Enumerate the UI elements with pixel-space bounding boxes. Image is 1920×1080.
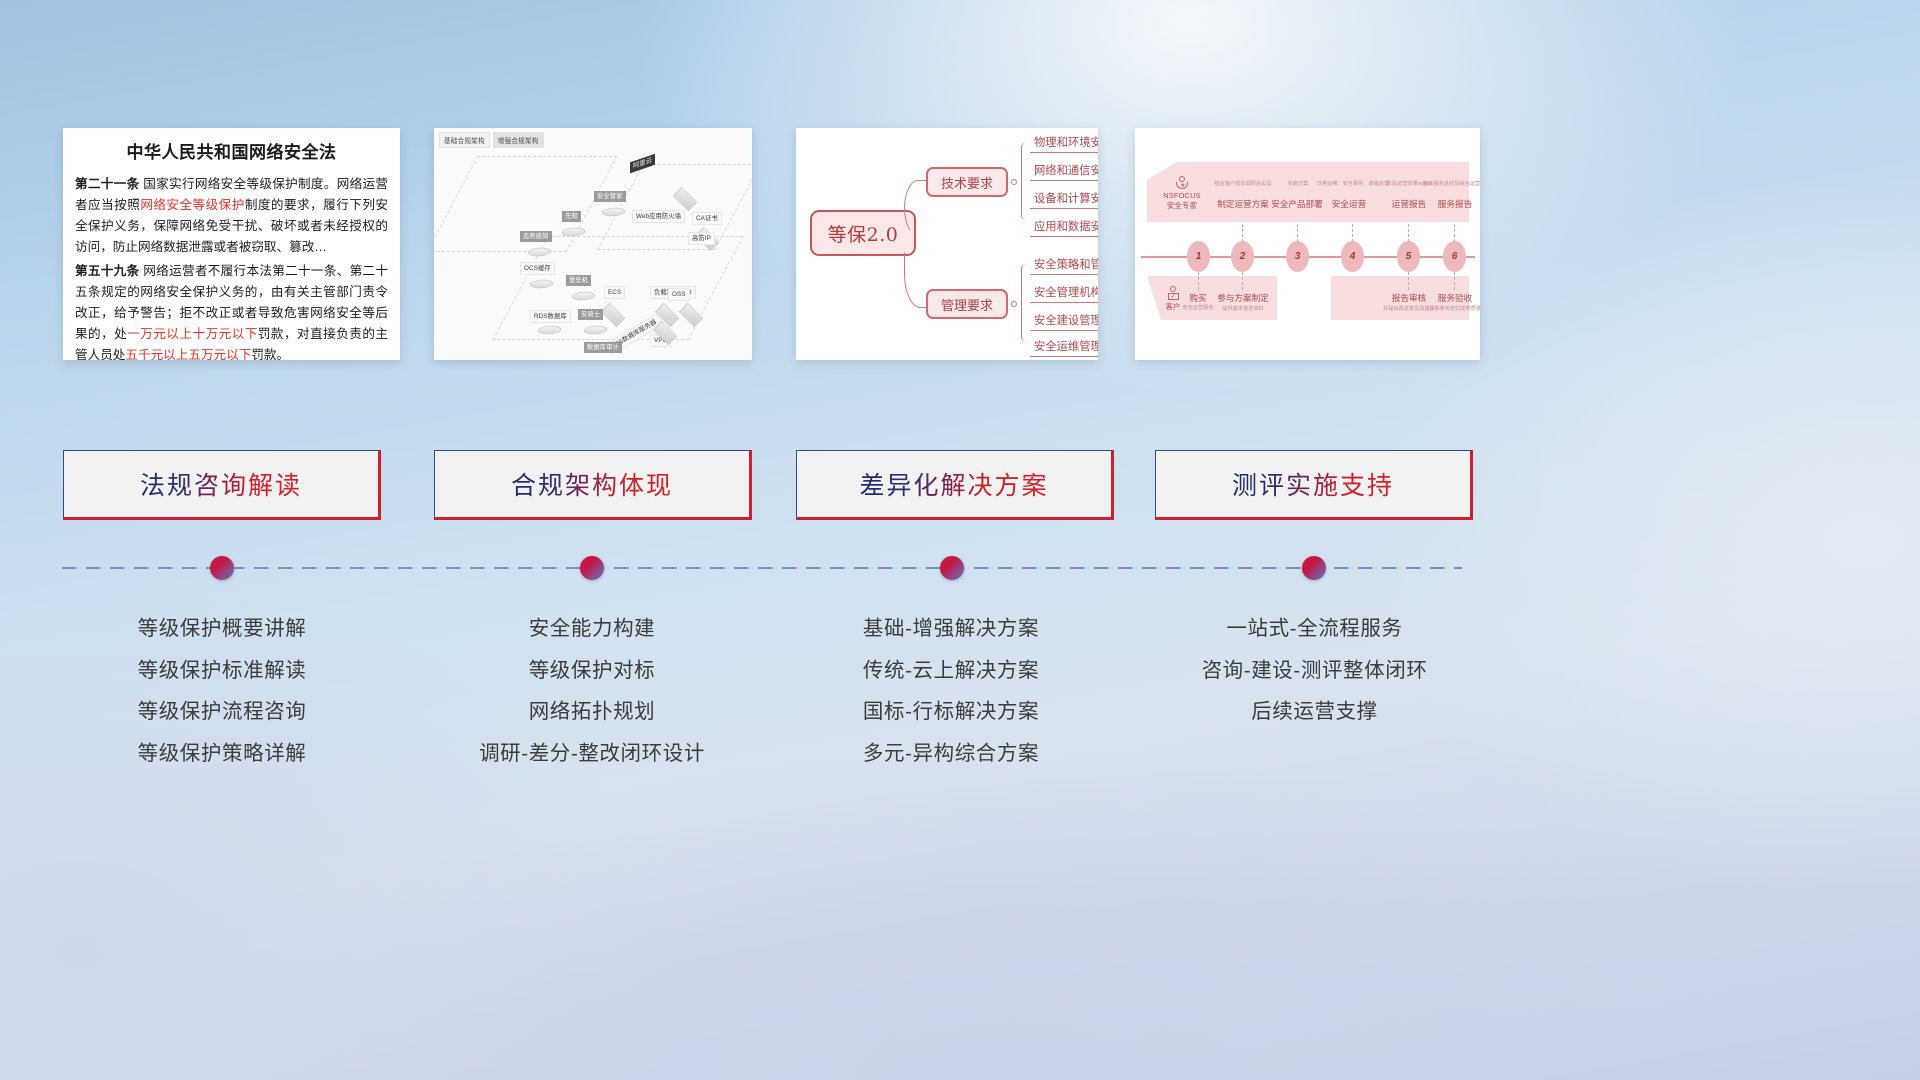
mindmap-branch-technical: 技术要求 xyxy=(926,167,1008,197)
title-label-3: 差异化解决方案 xyxy=(859,466,1048,502)
list-item: 等级保护对标 xyxy=(432,650,752,692)
timeline-stem-1 xyxy=(1198,272,1199,290)
progress-timeline xyxy=(62,567,1462,569)
tab-basic-compliance[interactable]: 基础合规架构 xyxy=(439,132,490,148)
title-label-4: 测评实施支持 xyxy=(1232,466,1394,502)
mindmap-leaf-device: 设备和计算安全 xyxy=(1030,190,1098,209)
timeline-node-3[interactable]: 3 xyxy=(1286,241,1309,272)
timeline-dot-1[interactable] xyxy=(210,556,234,580)
timeline-stem-5-top xyxy=(1408,224,1409,242)
list-item: 网络拓扑规划 xyxy=(432,691,752,733)
nsfocus-brand-line1: NSFOCUS xyxy=(1155,191,1209,201)
timeline-dot-2[interactable] xyxy=(580,556,604,580)
mindmap-leaf-policy: 安全策略和管理制度 xyxy=(1030,256,1098,275)
label-security-butler: 安全管家 xyxy=(594,191,626,202)
card-mindmap-preview[interactable]: 等保2.0 技术要求 物理和环境安全 网络和通信安全 设备和计算安全 应用和数据… xyxy=(796,128,1098,360)
card-architecture-preview[interactable]: 基础合规架构 增强合规架构 阿里云 安全管家 先知 态势感知 堡垒机 ECS 安… xyxy=(434,128,752,360)
law-article-21: 第二十一条 国家实行网络安全等级保护制度。网络运营者应当按照网络安全等级保护制度… xyxy=(75,174,388,258)
label-ocs-cache: OCS缓存 xyxy=(520,262,555,275)
timeline-stem-5-bottom xyxy=(1408,272,1409,290)
timeline-stem-6-bottom xyxy=(1454,272,1455,290)
timeline-top-label-3: 安全产品部署 xyxy=(1261,198,1333,210)
timeline-stem-2-bottom xyxy=(1242,272,1243,290)
mindmap-leaf-app-data: 应用和数据安全 xyxy=(1030,218,1098,237)
list-item: 安全能力构建 xyxy=(432,608,752,650)
label-anti-ddos: 高防IP xyxy=(688,232,715,245)
timeline-node-1[interactable]: 1 xyxy=(1187,241,1210,272)
security-expert-icon: ★ xyxy=(1176,176,1189,189)
mindmap-leaf-network: 网络和通信安全 xyxy=(1030,162,1098,181)
card-law-preview[interactable]: 中华人民共和国网络安全法 第二十一条 国家实行网络安全等级保护制度。网络运营者应… xyxy=(63,128,400,360)
timeline-top-sub-2: 结合客户现状调研后出具 xyxy=(1209,180,1277,187)
mindmap-leaf-physical: 物理和环境安全 xyxy=(1030,134,1098,153)
timeline-stem-2-top xyxy=(1242,224,1243,242)
title-label-2: 合规架构体现 xyxy=(511,466,673,502)
law-title: 中华人民共和国网络安全法 xyxy=(75,138,388,163)
nsfocus-brand: ★ NSFOCUS 安全专家 xyxy=(1155,176,1209,210)
list-item: 传统-云上解决方案 xyxy=(791,650,1111,692)
label-db-audit: 数据库审计 xyxy=(584,342,622,353)
timeline-stem-3 xyxy=(1297,224,1298,242)
mindmap-leaf-ops: 安全运维管理 xyxy=(1030,338,1098,357)
label-anqishi: 安骑士 xyxy=(578,309,603,320)
label-rds: RDS数据库 xyxy=(530,310,571,323)
timeline-node-4[interactable]: 4 xyxy=(1341,241,1364,272)
detail-column-2: 安全能力构建 等级保护对标 网络拓扑规划 调研-差分-整改闭环设计 xyxy=(432,608,752,774)
list-item: 咨询-建设-测评整体闭环 xyxy=(1152,650,1477,692)
timeline-node-6[interactable]: 6 xyxy=(1443,241,1466,272)
list-item: 等级保护概要讲解 xyxy=(62,608,382,650)
architecture-diagram: 基础合规架构 增强合规架构 阿里云 安全管家 先知 态势感知 堡垒机 ECS 安… xyxy=(434,128,752,360)
mindmap-leaf-build: 安全建设管理 xyxy=(1030,312,1098,331)
section-titles-row: 法规咨询解读 合规架构体现 差异化解决方案 测评实施支持 xyxy=(0,450,1920,520)
law-article-59-text-c: 罚款。 xyxy=(251,348,289,360)
list-item: 一站式-全流程服务 xyxy=(1152,608,1477,650)
timeline-dot-3[interactable] xyxy=(940,556,964,580)
mindmap-root: 等保2.0 xyxy=(810,210,916,256)
law-document: 中华人民共和国网络安全法 第二十一条 国家实行网络安全等级保护制度。网络运营者应… xyxy=(63,128,400,360)
list-item: 后续运营支撑 xyxy=(1152,691,1477,733)
title-box-differentiated-solution[interactable]: 差异化解决方案 xyxy=(796,450,1114,520)
preview-cards-row: 中华人民共和国网络安全法 第二十一条 国家实行网络安全等级保护制度。网络运营者应… xyxy=(0,128,1920,360)
mindmap-branch-management: 管理要求 xyxy=(926,289,1008,319)
timeline-node-5[interactable]: 5 xyxy=(1397,241,1420,272)
timeline-bottom-label-2: 参与方案制定 xyxy=(1209,292,1277,304)
list-item: 多元-异构综合方案 xyxy=(791,733,1111,775)
list-item: 基础-增强解决方案 xyxy=(791,608,1111,650)
timeline-bottom-sub-6: 评审服务交付成果质量 xyxy=(1419,305,1480,312)
mindmap-leaf-org: 安全管理机构和人员 xyxy=(1030,284,1098,303)
list-item: 等级保护标准解读 xyxy=(62,650,382,692)
label-oss: OSS xyxy=(668,288,690,301)
timeline-top-label-6: 服务报告 xyxy=(1429,198,1480,210)
nsfocus-brand-line2: 安全专家 xyxy=(1155,201,1209,211)
timeline-top-label-5: 运营报告 xyxy=(1383,198,1435,210)
mindmap-diagram: 等保2.0 技术要求 物理和环境安全 网络和通信安全 设备和计算安全 应用和数据… xyxy=(796,128,1098,360)
title-box-compliance-architecture[interactable]: 合规架构体现 xyxy=(434,450,752,520)
law-article-21-label: 第二十一条 xyxy=(75,177,139,191)
card-service-timeline-preview[interactable]: ★ NSFOCUS 安全专家 ✓ 客户 1 购买 安全运营服务 2 结合客户现状… xyxy=(1135,128,1480,360)
label-ca-cert: CA证书 xyxy=(692,212,722,225)
label-bastion-host: 堡垒机 xyxy=(566,275,591,286)
label-xianzhi: 先知 xyxy=(562,211,581,222)
list-item: 国标-行标解决方案 xyxy=(791,691,1111,733)
timeline-dashed-line xyxy=(62,567,1462,569)
timeline-stem-6-top xyxy=(1454,224,1455,242)
title-box-regulation-consulting[interactable]: 法规咨询解读 xyxy=(63,450,381,520)
timeline-top-label-4: 安全运营 xyxy=(1325,198,1373,210)
detail-column-3: 基础-增强解决方案 传统-云上解决方案 国标-行标解决方案 多元-异构综合方案 xyxy=(791,608,1111,774)
title-box-assessment-support[interactable]: 测评实施支持 xyxy=(1155,450,1473,520)
law-article-59-highlight-1: 一万元以上十万元以下 xyxy=(127,327,258,341)
mindmap-collapse-tech-icon[interactable] xyxy=(1011,179,1017,185)
label-waf: Web应用防火墙 xyxy=(632,210,685,223)
list-item: 等级保护流程咨询 xyxy=(62,691,382,733)
label-ecs: ECS xyxy=(604,286,625,299)
detail-column-4: 一站式-全流程服务 咨询-建设-测评整体闭环 后续运营支撑 xyxy=(1152,608,1477,733)
timeline-bottom-sub-2: 提供基本信息资料 xyxy=(1205,305,1281,312)
list-item: 调研-差分-整改闭环设计 xyxy=(432,733,752,775)
law-article-59-highlight-2: 五千元以上五万元以下 xyxy=(125,348,251,360)
law-article-59: 第五十九条 网络运营者不履行本法第二十一条、第二十五条规定的网络安全保护义务的，… xyxy=(75,261,388,360)
timeline-top-sub-6: 整体服务总结及综合运营报告 xyxy=(1423,180,1480,187)
law-article-59-label: 第五十九条 xyxy=(75,264,139,278)
timeline-bottom-label-6: 服务验收 xyxy=(1429,292,1480,304)
tab-enhanced-compliance[interactable]: 增强合规架构 xyxy=(493,132,544,148)
service-timeline-diagram: ★ NSFOCUS 安全专家 ✓ 客户 1 购买 安全运营服务 2 结合客户现状… xyxy=(1135,128,1480,360)
timeline-node-2[interactable]: 2 xyxy=(1231,241,1254,272)
list-item: 等级保护策略详解 xyxy=(62,733,382,775)
title-label-1: 法规咨询解读 xyxy=(140,466,302,502)
timeline-dot-4[interactable] xyxy=(1302,556,1326,580)
law-article-21-highlight: 网络安全等级保护 xyxy=(140,198,245,212)
architecture-tabs[interactable]: 基础合规架构 增强合规架构 xyxy=(439,132,544,148)
label-situational-awareness: 态势感知 xyxy=(520,231,552,242)
timeline-bottom-label-5: 报告审核 xyxy=(1383,292,1435,304)
detail-column-1: 等级保护概要讲解 等级保护标准解读 等级保护流程咨询 等级保护策略详解 xyxy=(62,608,382,774)
mindmap-collapse-mgmt-icon[interactable] xyxy=(1011,301,1017,307)
timeline-stem-4 xyxy=(1352,224,1353,242)
